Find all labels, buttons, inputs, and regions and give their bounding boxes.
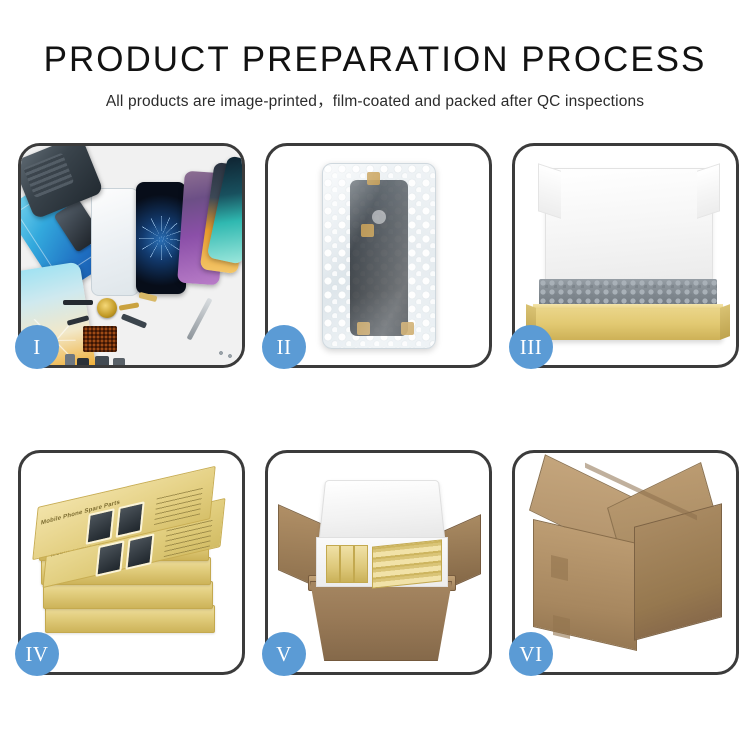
page-subtitle: All products are image-printed，film-coat… (0, 77, 750, 111)
stacked-box (43, 581, 213, 609)
chip-component-graphic (113, 358, 125, 365)
step-2-image (268, 146, 489, 365)
step-1-image (21, 146, 242, 365)
yellow-tray-graphic (533, 304, 723, 340)
step-4-image: Mobile Phone Spare Parts Mobile Phone Sp… (21, 453, 242, 672)
header: PRODUCT PREPARATION PROCESS All products… (0, 0, 750, 111)
step-badge-6: VI (509, 632, 553, 676)
coil-component-graphic (97, 298, 117, 318)
step-5-image (268, 453, 489, 672)
chip-component-graphic (77, 358, 89, 365)
box-window-graphic (116, 501, 145, 538)
box-specs-graphic (154, 486, 203, 525)
open-carton-scene (268, 453, 489, 672)
step-panel-6: VI (512, 450, 739, 675)
step-badge-3: III (509, 325, 553, 369)
screws-graphic (217, 348, 237, 360)
yellow-box-in-carton (354, 545, 368, 583)
carton-tape-mark (551, 555, 568, 581)
step-panel-2: II (265, 143, 492, 368)
step-panel-4: Mobile Phone Spare Parts Mobile Phone Sp… (18, 450, 245, 675)
infographic-page: PRODUCT PREPARATION PROCESS All products… (0, 0, 750, 750)
tray-right-flap (720, 304, 730, 340)
white-foam-lid-graphic (545, 168, 713, 294)
flex-cable-graphic (119, 302, 140, 310)
carton-tape-mark (553, 615, 570, 639)
front-glass-graphic (91, 188, 139, 296)
page-title: PRODUCT PREPARATION PROCESS (0, 0, 750, 77)
yellow-box-stack-graphic (372, 539, 442, 588)
step-badge-2: II (262, 325, 306, 369)
step-panel-5: V (265, 450, 492, 675)
flex-cable-graphic (121, 313, 147, 328)
chip-component-graphic (65, 354, 75, 365)
carton-body (310, 581, 452, 661)
tweezers-graphic (186, 298, 212, 341)
box-stack-graphic: Mobile Phone Spare Parts Mobile Phone Sp… (29, 471, 239, 661)
speaker-bar-graphic (63, 300, 93, 305)
box-window-graphic (86, 508, 115, 545)
step-badge-5: V (262, 632, 306, 676)
mesh-pad-graphic (83, 326, 117, 352)
step-6-image (515, 453, 736, 672)
sealed-carton-scene (515, 453, 736, 672)
yellow-box-in-carton (340, 545, 354, 583)
foam-lid-graphic (319, 480, 446, 541)
carton-side-face (634, 503, 722, 641)
step-badge-4: IV (15, 632, 59, 676)
process-steps-grid: I II (0, 143, 750, 703)
step-3-image (515, 146, 736, 365)
step-panel-3: III (512, 143, 739, 368)
chip-component-graphic (95, 356, 109, 365)
foam-box-scene (515, 146, 736, 365)
stacked-box (45, 605, 215, 633)
phone-parts-scene (21, 146, 242, 365)
carton-front-face (533, 519, 637, 651)
bubble-bag-graphic (322, 163, 436, 349)
step-badge-1: I (15, 325, 59, 369)
yellow-box-in-carton (326, 545, 340, 583)
step-panel-1: I (18, 143, 245, 368)
bag-gloss-overlay (323, 164, 435, 348)
